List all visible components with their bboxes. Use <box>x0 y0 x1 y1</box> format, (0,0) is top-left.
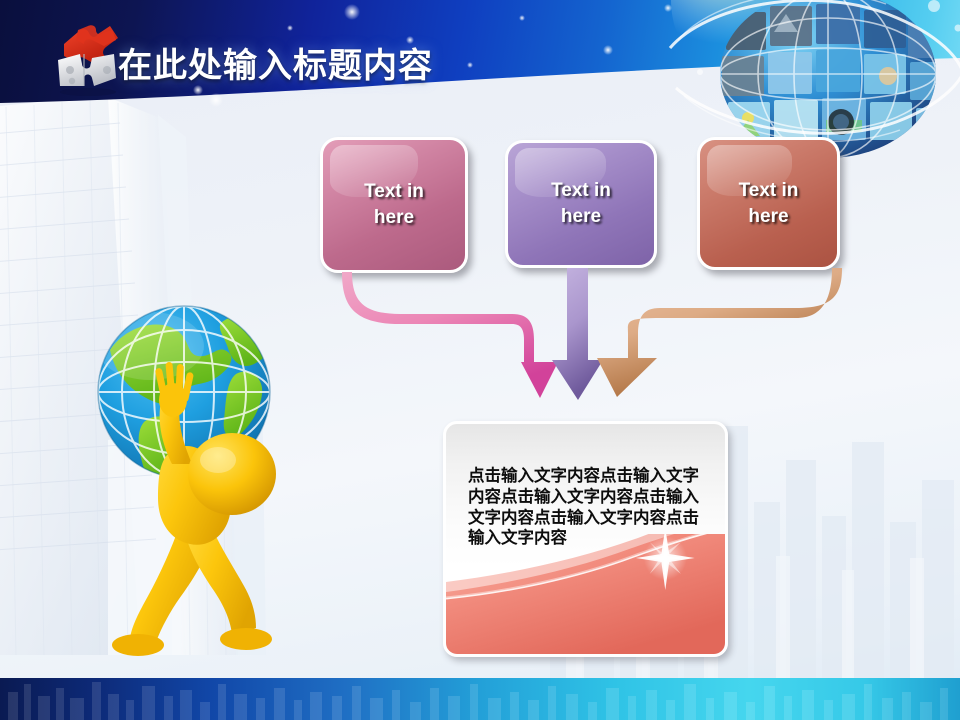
content-body-text: 点击输入文字内容点击输入文字内容点击输入文字内容点击输入文字内容点击输入文字内容… <box>468 466 713 549</box>
topic-box-1-label: Text in here <box>364 179 424 230</box>
content-panel[interactable]: 点击输入文字内容点击输入文字内容点击输入文字内容点击输入文字内容点击输入文字内容… <box>443 421 728 657</box>
topic-box-3-label: Text in here <box>739 178 799 229</box>
topic-box-2-label: Text in here <box>551 178 611 229</box>
slide-canvas: 在此处输入标题内容 <box>0 0 960 720</box>
bottom-skyline-silhouette <box>0 678 960 720</box>
bottom-color-strip <box>0 678 960 720</box>
content-wave-decoration <box>446 534 725 654</box>
